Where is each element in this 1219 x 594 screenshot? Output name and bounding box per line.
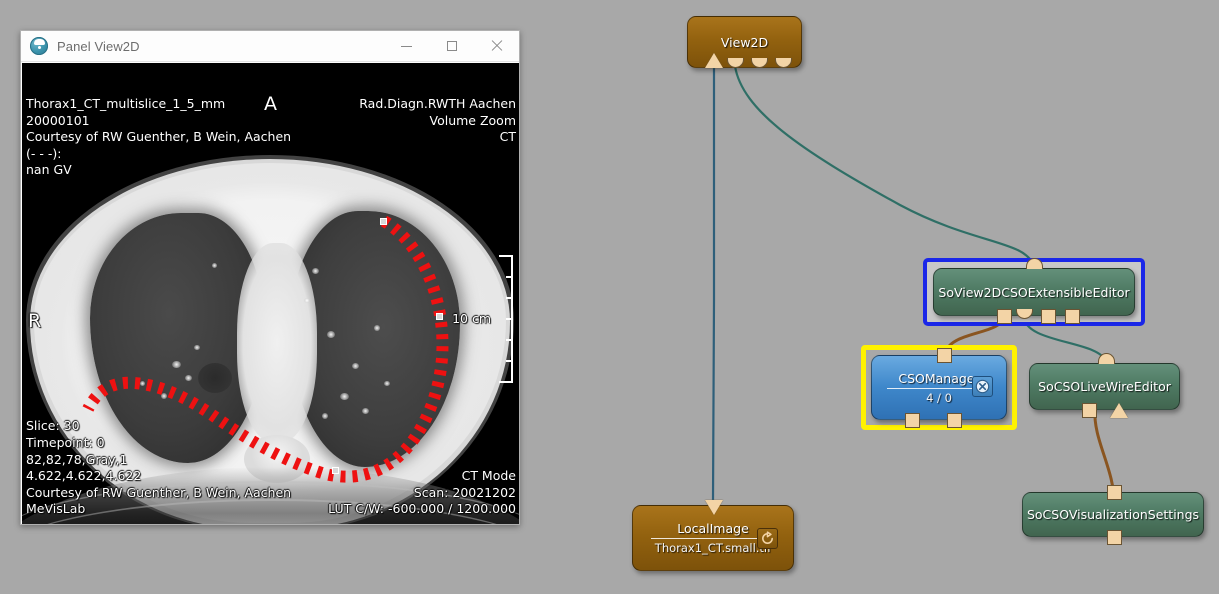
node-socsolivewireeditor[interactable]: SoCSOLiveWireEditor [1029, 363, 1180, 410]
node-vissettings-output-0[interactable] [1107, 530, 1122, 545]
node-livewire-input-0[interactable] [1098, 353, 1115, 364]
app-root: Panel View2D [0, 0, 1219, 594]
node-localimage-input-0[interactable] [705, 500, 723, 515]
reload-icon[interactable] [757, 528, 778, 549]
node-editor-output-2[interactable] [1041, 309, 1056, 324]
node-vissettings-input-0[interactable] [1107, 485, 1122, 500]
node-csomanager-output-1[interactable] [947, 413, 962, 428]
node-localimage-label: LocalImage [677, 521, 749, 536]
link-view2d-editor [735, 66, 1034, 266]
node-soview2dcsoextensibleeditor[interactable]: SoView2DCSOExtensibleEditor [933, 268, 1135, 316]
node-livewire-output-0[interactable] [1082, 403, 1097, 418]
node-socsovisualizationsettings-label: SoCSOVisualizationSettings [1027, 507, 1199, 522]
node-localimage-sub: Thorax1_CT.small.tif [655, 541, 771, 555]
node-editor-output-0[interactable] [997, 309, 1012, 324]
node-csomanager-label: CSOManager [898, 371, 979, 386]
node-socsolivewireeditor-label: SoCSOLiveWireEditor [1038, 379, 1171, 394]
node-csomanager-sub: 4 / 0 [926, 391, 952, 405]
node-view2d-output-0[interactable] [705, 53, 723, 68]
close-circle-icon[interactable] [972, 376, 993, 397]
node-soview2dcsoextensibleeditor-label: SoView2DCSOExtensibleEditor [938, 285, 1129, 300]
link-view2d-localimage [713, 66, 714, 500]
node-livewire-output-1[interactable] [1110, 403, 1128, 418]
node-csomanager-output-0[interactable] [905, 413, 920, 428]
node-editor-input-0[interactable] [1026, 258, 1043, 269]
node-view2d-label: View2D [721, 35, 768, 50]
node-csomanager-input-0[interactable] [937, 348, 952, 363]
node-editor-output-3[interactable] [1065, 309, 1080, 324]
network-graph[interactable]: View2D SoView2DCSOExtensibleEditor CSOMa… [0, 0, 1219, 594]
